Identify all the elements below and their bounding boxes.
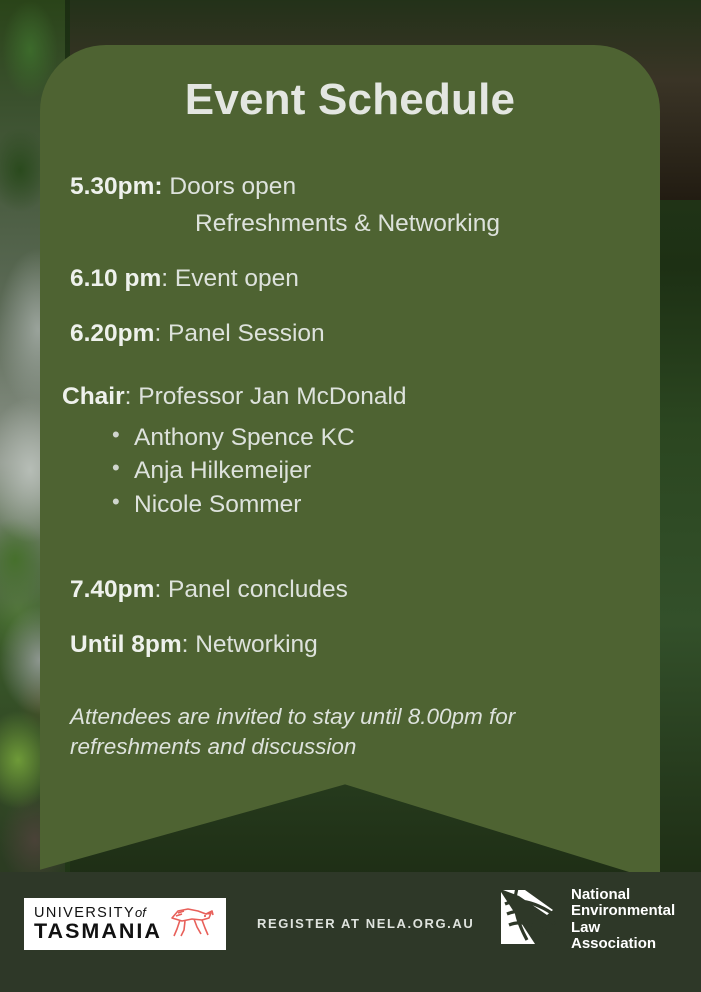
schedule-subline: Refreshments & Networking [195,210,660,239]
nela-line2: Environmental [571,903,675,919]
nela-line3: Law [571,920,675,936]
nela-emblem-icon [495,884,561,955]
panelist-list: Anthony Spence KC Anja Hilkemeijer Nicol… [112,421,660,522]
nela-line4: Association [571,936,675,952]
panel-chair: Chair: Professor Jan McDonald [62,383,660,411]
schedule-row: 5.30pm: Doors open Refreshments & Networ… [70,173,660,239]
schedule-label: Doors open [163,173,296,200]
schedule-row: 7.40pm: Panel concludes [70,576,660,605]
list-item: Nicole Sommer [112,488,660,522]
nela-line1: National [571,887,675,903]
footer-bar: UNIVERSITYof TASMANIA REGISTER AT NELA.O… [0,872,701,992]
utas-line2: TASMANIA [34,921,162,943]
schedule-label: : Networking [182,631,318,658]
utas-wordmark: UNIVERSITYof TASMANIA [34,906,162,943]
schedule-row: 6.10 pm: Event open [70,265,660,294]
schedule-time: 5.30pm: [70,173,163,200]
utas-of-text: of [135,905,146,920]
page-title: Event Schedule [40,75,660,125]
schedule-label: : Panel concludes [154,576,347,603]
chair-name: : Professor Jan McDonald [125,383,407,410]
list-item: Anthony Spence KC [112,421,660,455]
schedule-time: 7.40pm [70,576,154,603]
nela-wordmark: National Environmental Law Association [571,887,675,951]
schedule-list: 5.30pm: Doors open Refreshments & Networ… [70,173,660,349]
utas-logo: UNIVERSITYof TASMANIA [24,898,226,950]
schedule-label: : Event open [161,265,299,292]
poster-content: Event Schedule 5.30pm: Doors open Refres… [40,45,660,763]
schedule-time: 6.10 pm [70,265,161,292]
schedule-list-late: 7.40pm: Panel concludes Until 8pm: Netwo… [70,576,660,660]
schedule-row: 6.20pm: Panel Session [70,320,660,349]
utas-line1: UNIVERSITYof [34,906,162,921]
attendee-note: Attendees are invited to stay until 8.00… [70,702,630,763]
schedule-label: : Panel Session [154,320,324,347]
list-item: Anja Hilkemeijer [112,454,660,488]
chair-label: Chair [62,383,125,410]
schedule-time: Until 8pm [70,631,182,658]
tasmanian-lion-icon [168,905,214,944]
nela-logo: National Environmental Law Association [495,884,675,955]
schedule-time: 6.20pm [70,320,154,347]
schedule-row: Until 8pm: Networking [70,631,660,660]
register-text: REGISTER AT NELA.ORG.AU [257,916,474,931]
